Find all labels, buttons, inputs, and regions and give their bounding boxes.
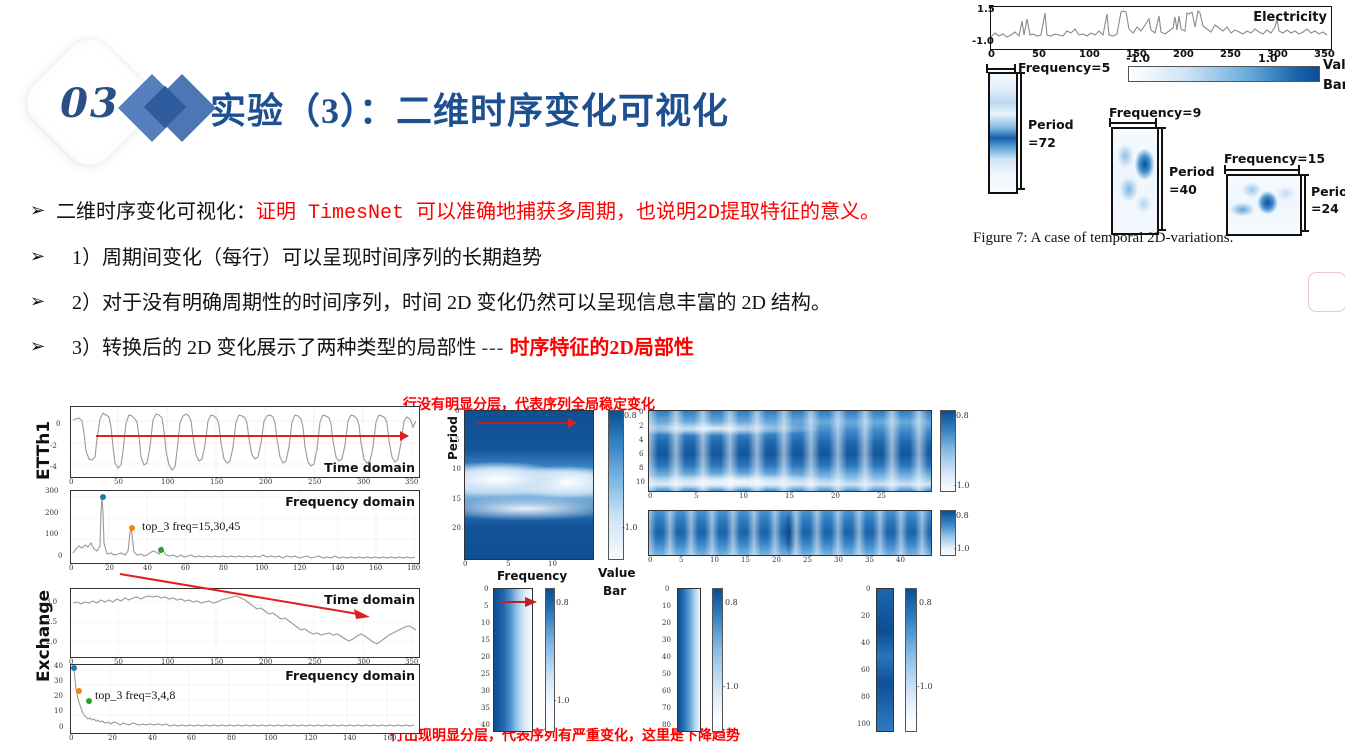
period72-cap-b — [1016, 188, 1025, 190]
value-bar-label-2: Bar — [603, 584, 626, 598]
fig7-xtick: 250 — [1220, 49, 1241, 60]
colorbar-tick-min: -1.0 — [723, 682, 738, 691]
heatmap-3-period-value: =24 — [1311, 201, 1339, 216]
heatmap-3-period-label: Period — [1311, 184, 1345, 199]
xtick: 250 — [308, 478, 321, 486]
ytick: -2 — [50, 442, 57, 450]
value-bar-gradient — [1128, 66, 1320, 82]
xtick: 160 — [383, 734, 396, 742]
etth1-frequency-domain-plot: Frequency domain — [70, 490, 420, 564]
ytick: 20 — [54, 692, 63, 700]
row-label-etth1: ETTh1 — [34, 421, 54, 480]
heatmap-1-frequency-label: Frequency=5 — [1018, 60, 1110, 75]
ytick: 0 — [59, 723, 63, 731]
freq15-cap-r — [1298, 165, 1300, 174]
peak-dot-2 — [76, 688, 82, 694]
fig7-ytick-min: -1.0 — [972, 36, 994, 47]
etth1-trend-arrow-icon — [96, 435, 408, 437]
xtick: 40 — [148, 734, 157, 742]
figure-7-caption: Figure 7: A case of temporal 2D-variatio… — [973, 230, 1233, 247]
xtick: 0 — [648, 556, 652, 564]
heatmap-3-frequency-label: Frequency=15 — [1224, 151, 1325, 166]
exchange-2d-heatmap-1 — [493, 588, 533, 732]
list-item: ➢ 3）转换后的 2D 变化展示了两种类型的局部性 --- 时序特征的2D局部性 — [30, 336, 1030, 361]
xtick: 100 — [161, 478, 174, 486]
ytick: 10 — [481, 619, 490, 627]
figure-7: Electricity 1.5 -1.0 0 50 100 150 200 25… — [978, 2, 1345, 252]
exchange-row-arrow-icon — [497, 595, 541, 609]
heatmap-2-frequency-label: Frequency=9 — [1109, 105, 1201, 120]
ytick: 10 — [636, 478, 645, 486]
freq5-bracket-cap-l — [986, 64, 988, 73]
ytick: 0 — [665, 585, 669, 593]
value-bar-label-1: Value — [1323, 58, 1345, 73]
ytick: 5 — [484, 602, 488, 610]
electricity-series-plot: Electricity — [990, 6, 1332, 50]
etth1-time-domain-plot: Time domain — [70, 406, 420, 478]
colorbar-min: -1.0 — [1126, 52, 1150, 65]
ytick: 10 — [54, 707, 63, 715]
ytick: 50 — [662, 670, 671, 678]
axis-label-frequency: Frequency — [497, 569, 567, 583]
bullet-arrow-icon: ➢ — [30, 336, 56, 359]
ytick: 20 — [481, 653, 490, 661]
period40-cap-t — [1157, 127, 1166, 129]
colorbar-tick-max: 0.8 — [624, 411, 637, 420]
bullet-text-red: 时序特征的2D局部性 — [509, 337, 693, 359]
exchange-2d-heatmap-2 — [677, 588, 701, 732]
exchange-frequency-domain-label: Frequency domain — [285, 668, 415, 683]
fig7-xtick: 100 — [1079, 49, 1100, 60]
colorbar-tick-min: -1.0 — [622, 523, 637, 532]
xtick: 0 — [69, 478, 73, 486]
ytick: 100 — [45, 530, 58, 538]
xtick: 25 — [803, 556, 812, 564]
bullet-text-red: 证明 TimesNet 可以准确地捕获多周期，也说明2D提取特征的意义。 — [256, 202, 880, 225]
list-item: ➢ 1）周期间变化（每行）可以呈现时间序列的长期趋势 — [30, 246, 1030, 271]
heatmap-2-period-label: Period — [1169, 164, 1215, 179]
ytick: 20 — [861, 612, 870, 620]
etth1-2d-heatmap-row1 — [648, 410, 932, 492]
xtick: 0 — [463, 560, 467, 568]
ytick: 200 — [45, 509, 58, 517]
bullet-list: ➢ 二维时序变化可视化：证明 TimesNet 可以准确地捕获多周期，也说明2D… — [30, 200, 1030, 381]
heatmap-frequency-9 — [1111, 127, 1159, 235]
ytick: 30 — [54, 677, 63, 685]
list-item: ➢ 2）对于没有明确周期性的时间序列，时间 2D 变化仍然可以呈现信息丰富的 2… — [30, 291, 1030, 316]
xtick: 15 — [741, 556, 750, 564]
period24-cap-t — [1300, 174, 1309, 176]
ytick: 60 — [662, 687, 671, 695]
bottom-figure: 行没有明显分层，代表序列全局稳定变化 行出现明显分层，代表序列有严重变化，这里是… — [0, 392, 1345, 748]
colorbar-tick-max: 0.8 — [956, 511, 969, 520]
etth1-2d-heatmap-row2 — [648, 510, 932, 556]
bullet-arrow-icon: ➢ — [30, 200, 56, 223]
xtick: 140 — [343, 734, 356, 742]
slide-root: 03 实验（3）：二维时序变化可视化 ➢ 二维时序变化可视化：证明 TimesN… — [0, 0, 1345, 748]
xtick: 80 — [227, 734, 236, 742]
translate-badge-frame[interactable]: 中A — [1308, 272, 1345, 312]
heatmap-1-period-value: =72 — [1028, 135, 1056, 150]
ytick: 8 — [639, 464, 643, 472]
colorbar-tick-min: -1.0 — [954, 481, 969, 490]
colorbar-tick-min: -1.0 — [554, 696, 569, 705]
bullet-text-black: 二维时序变化可视化： — [56, 201, 256, 223]
xtick: 20 — [772, 556, 781, 564]
xtick: 180 — [407, 564, 420, 572]
ytick: 4 — [639, 436, 643, 444]
xtick: 30 — [834, 556, 843, 564]
axis-label-period: Period — [446, 416, 460, 460]
ytick: 15 — [481, 636, 490, 644]
page-title: 实验（3）：二维时序变化可视化 — [210, 82, 729, 134]
etth1-time-domain-label: Time domain — [324, 460, 415, 475]
etth1-2d-heatmap-main — [464, 410, 594, 560]
heatmap-frequency-5 — [988, 72, 1018, 194]
colorbar-tick-max: 0.8 — [956, 411, 969, 420]
fig7-ytick-max: 1.5 — [977, 4, 995, 15]
freq5-bracket — [986, 68, 1016, 70]
period40-bracket — [1161, 127, 1163, 231]
ytick: 60 — [861, 666, 870, 674]
xtick: 20 — [105, 564, 114, 572]
ytick: 20 — [452, 524, 461, 532]
xtick: 60 — [187, 734, 196, 742]
electricity-series-label: Electricity — [1253, 10, 1327, 25]
xtick: 5 — [506, 560, 510, 568]
xtick: 200 — [259, 478, 272, 486]
bullet-text-black: 2）对于没有明确周期性的时间序列，时间 2D 变化仍然可以呈现信息丰富的 2D … — [72, 292, 831, 314]
ytick: 80 — [662, 721, 671, 729]
period24-cap-b — [1300, 230, 1309, 232]
xtick: 10 — [710, 556, 719, 564]
value-bar-main — [608, 410, 624, 560]
heatmap-1-period-label: Period — [1028, 117, 1074, 132]
ytick: 2 — [639, 422, 643, 430]
xtick: 5 — [679, 556, 683, 564]
bullet-text-black: 1）周期间变化（每行）可以呈现时间序列的长期趋势 — [72, 247, 542, 269]
xtick: 120 — [304, 734, 317, 742]
ytick: 80 — [861, 693, 870, 701]
peak-dot-2 — [129, 525, 135, 531]
xtick: 5 — [694, 492, 698, 500]
ytick: 40 — [54, 662, 63, 670]
heatmap-2-period-value: =40 — [1169, 182, 1197, 197]
ytick: 0 — [58, 552, 62, 560]
colorbar-tick-min: -1.0 — [917, 682, 932, 691]
ytick: 10 — [452, 465, 461, 473]
colorbar-max: 1.0 — [1258, 52, 1278, 65]
freq9-bracket — [1109, 122, 1157, 124]
xtick: 0 — [69, 564, 73, 572]
xtick: 50 — [114, 478, 123, 486]
ytick: 35 — [481, 704, 490, 712]
period72-cap-t — [1016, 72, 1025, 74]
xtick: 20 — [831, 492, 840, 500]
colorbar-tick-max: 0.8 — [556, 598, 569, 607]
xtick: 20 — [108, 734, 117, 742]
value-bar-label-2: Bar — [1323, 78, 1345, 93]
fig7-xtick: 50 — [1032, 49, 1046, 60]
heatmap-row-arrow-icon — [478, 422, 576, 424]
peak-dot-1 — [100, 494, 106, 500]
ytick: 300 — [45, 487, 58, 495]
xtick: 100 — [264, 734, 277, 742]
heatmap-frequency-15 — [1226, 174, 1302, 236]
xtick: 150 — [210, 478, 223, 486]
ytick: 40 — [861, 639, 870, 647]
etth1-frequency-domain-label: Frequency domain — [285, 494, 415, 509]
ytick: 30 — [662, 636, 671, 644]
peak-dot-1 — [71, 665, 77, 671]
ytick: 70 — [662, 704, 671, 712]
value-bar-row1 — [940, 410, 956, 492]
period24-bracket — [1304, 174, 1306, 232]
ytick: 2.0 — [46, 638, 57, 646]
ytick: -4 — [50, 463, 57, 471]
ytick: 3.0 — [46, 598, 57, 606]
fig7-xtick: 0 — [988, 49, 995, 60]
xtick: 10 — [548, 560, 557, 568]
ytick: 25 — [481, 670, 490, 678]
list-item: ➢ 二维时序变化可视化：证明 TimesNet 可以准确地捕获多周期，也说明2D… — [30, 200, 1030, 226]
ytick: 40 — [662, 653, 671, 661]
colorbar-tick-max: 0.8 — [919, 598, 932, 607]
exchange-trend-arrow-icon — [118, 570, 378, 628]
period72-bracket — [1020, 72, 1022, 190]
freq15-cap-l — [1224, 165, 1226, 174]
xtick: 0 — [648, 492, 652, 500]
value-bar-bottom3 — [905, 588, 917, 732]
ytick: 0 — [866, 585, 870, 593]
freq15-bracket — [1224, 169, 1300, 171]
xtick: 350 — [405, 478, 418, 486]
bullet-dash: --- — [481, 337, 504, 359]
value-bar-bottom1 — [545, 588, 555, 732]
etth1-topk-label: top_3 freq=15,30,45 — [142, 519, 240, 534]
ytick: 0 — [56, 420, 60, 428]
value-bar-label-1: Value — [598, 566, 636, 580]
colorbar-tick-min: -1.0 — [954, 544, 969, 553]
ytick: 30 — [481, 687, 490, 695]
xtick: 25 — [877, 492, 886, 500]
ytick: 0 — [484, 585, 488, 593]
colorbar-tick-max: 0.8 — [725, 598, 738, 607]
bullet-text-black: 3）转换后的 2D 变化展示了两种类型的局部性 — [72, 337, 476, 359]
ytick: 0 — [455, 407, 459, 415]
peak-dot-3 — [158, 547, 164, 553]
xtick: 35 — [865, 556, 874, 564]
peak-dot-3 — [86, 698, 92, 704]
xtick: 40 — [896, 556, 905, 564]
xtick: 300 — [357, 478, 370, 486]
ytick: 15 — [452, 495, 461, 503]
xtick: 0 — [69, 734, 73, 742]
ytick: 10 — [662, 602, 671, 610]
ytick: 6 — [639, 450, 643, 458]
bullet-arrow-icon: ➢ — [30, 291, 56, 314]
ytick: 0 — [639, 408, 643, 416]
xtick: 10 — [739, 492, 748, 500]
bullet-arrow-icon: ➢ — [30, 246, 56, 269]
value-bar-bottom2 — [712, 588, 723, 732]
fig7-xtick: 200 — [1173, 49, 1194, 60]
ytick: 2.5 — [46, 618, 57, 626]
ytick: 20 — [662, 619, 671, 627]
ytick: 40 — [481, 721, 490, 729]
exchange-topk-label: top_3 freq=3,4,8 — [95, 688, 175, 703]
xtick: 15 — [785, 492, 794, 500]
exchange-2d-heatmap-3 — [876, 588, 894, 732]
ytick: 100 — [857, 720, 870, 728]
